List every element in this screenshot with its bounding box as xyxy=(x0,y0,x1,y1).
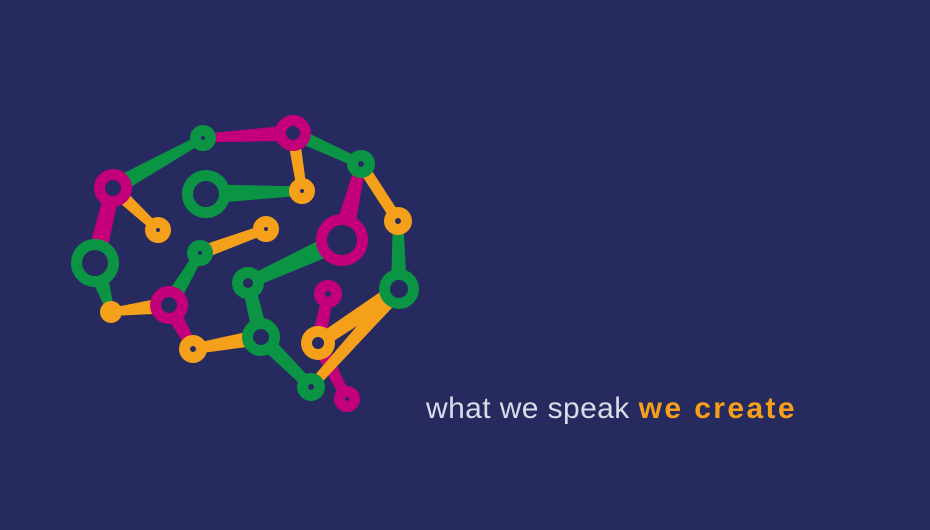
tagline-accent-text: we create xyxy=(639,392,797,425)
tagline-light-text: what we speak xyxy=(426,392,630,425)
node-orange-left-lower xyxy=(106,307,117,318)
logo-nodes-group xyxy=(77,121,414,407)
tagline: what we speakwe create xyxy=(426,390,797,428)
logo-canvas: what we speakwe create xyxy=(0,0,930,530)
link-n6-n7 xyxy=(219,185,295,203)
link-n1-n2 xyxy=(210,126,284,142)
brain-network-logo xyxy=(55,95,435,425)
